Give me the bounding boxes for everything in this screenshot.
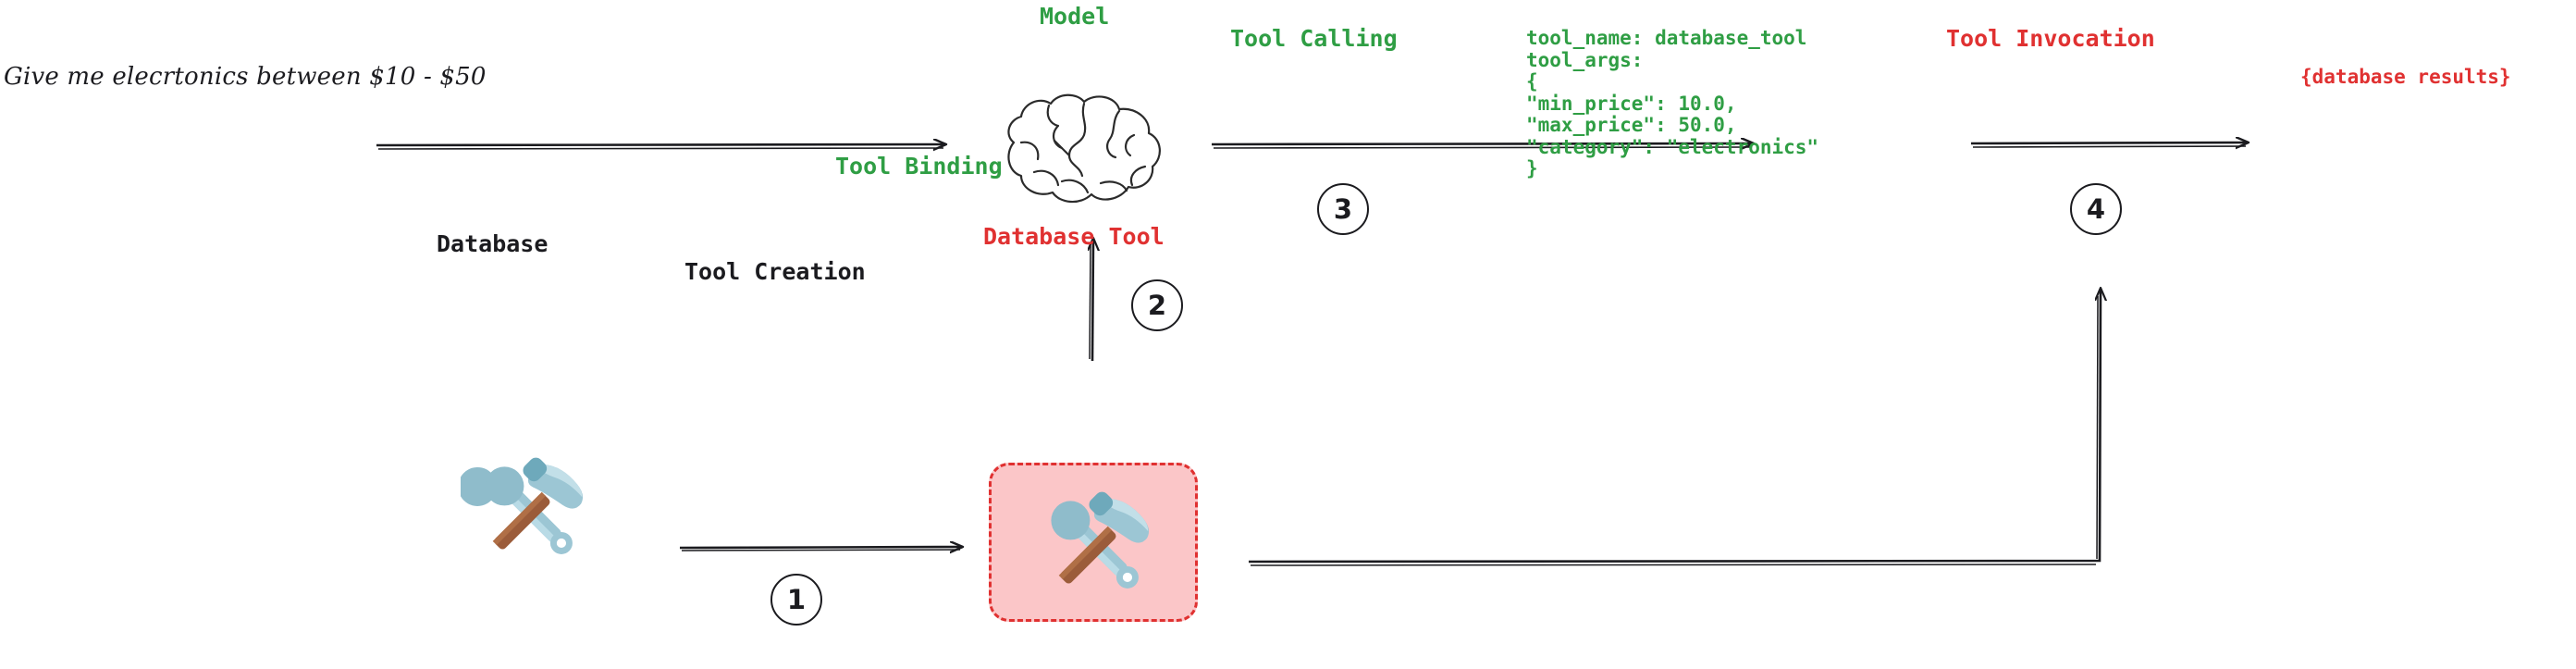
step-number-4: 4 [2070,183,2122,235]
brain-icon [980,83,1184,217]
step-number-3: 3 [1317,183,1369,235]
tool-call-code-block: tool_name: database_tool tool_args: { "m… [1526,28,1818,180]
arrow-tool-binding-up [1090,239,1093,361]
tool-calling-label: Tool Calling [1230,27,1398,50]
connectors-layer [0,0,2576,669]
tool-invocation-label: Tool Invocation [1946,27,2155,50]
database-results-label: {database results} [2300,68,2511,87]
database-tool-label: Database Tool [983,225,1165,248]
arrow-toolbox-to-invocation [1249,289,2101,565]
hammer-and-wrench-icon-tool [1027,477,1165,615]
database-tool-box[interactable] [989,463,1198,622]
arrow-query-to-model [376,144,945,149]
arrow-toolcall-to-results [1971,142,2248,147]
step-number-1: 1 [770,574,822,626]
hammer-and-wrench-icon-database [461,442,599,581]
tool-binding-label: Tool Binding [835,155,1003,178]
model-label: Model [1040,5,1109,28]
arrow-tool-creation [680,547,962,551]
user-query-text: Give me elecrtonics between $10 - $50 [4,65,487,89]
database-label: Database [437,232,548,255]
diagram-canvas: Give me elecrtonics between $10 - $50 Mo… [0,0,2576,669]
tool-creation-label: Tool Creation [684,260,866,283]
step-number-2: 2 [1131,279,1183,331]
